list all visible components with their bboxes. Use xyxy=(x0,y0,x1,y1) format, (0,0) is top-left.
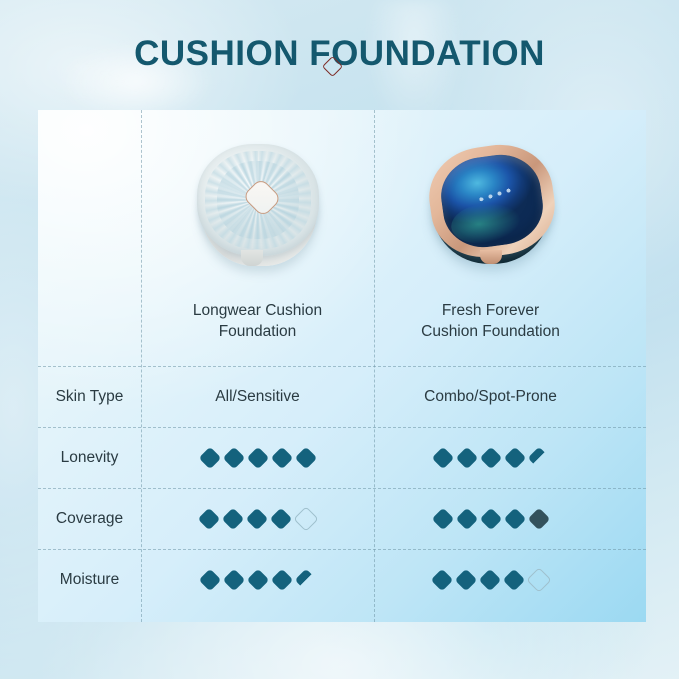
rating-diamond-full xyxy=(269,507,292,530)
rating-diamond-full xyxy=(431,507,454,530)
rating-diamond-empty xyxy=(526,567,551,592)
product-name-2-line2: Cushion Foundation xyxy=(374,321,607,342)
rating-diamond-full xyxy=(431,446,454,469)
rating-group xyxy=(434,571,548,589)
rating-diamond-full xyxy=(270,446,293,469)
rating-diamond-full xyxy=(246,568,269,591)
product-name-1-line2: Foundation xyxy=(141,321,374,342)
table-cell xyxy=(141,549,374,610)
rating-diamond-full xyxy=(479,446,502,469)
row-label: Skin Type xyxy=(38,366,141,427)
product-image-longwear xyxy=(183,138,333,278)
white-cushion-compact-icon xyxy=(183,138,333,278)
table-row: Moisture xyxy=(38,549,646,610)
table-row: Coverage xyxy=(38,488,646,549)
cushion-blue-dome xyxy=(436,149,548,252)
product-header-row: Longwear Cushion Foundation xyxy=(38,110,646,366)
table-cell xyxy=(141,427,374,488)
rating-group xyxy=(202,450,314,466)
rating-diamond-full xyxy=(479,507,502,530)
rating-diamond-full xyxy=(221,507,244,530)
row-label: Lonevity xyxy=(38,427,141,488)
title-container: CUSHION FOUNDATION xyxy=(0,34,679,74)
cushion-clasp xyxy=(480,250,502,264)
product-name-2-line1: Fresh Forever xyxy=(374,300,607,321)
rating-diamond-full xyxy=(222,446,245,469)
row-label: Moisture xyxy=(38,549,141,610)
cushion-rose-gold-ring xyxy=(422,138,560,264)
rating-diamond-full xyxy=(245,507,268,530)
table-row: Skin TypeAll/SensitiveCombo/Spot-Prone xyxy=(38,366,646,427)
product-name-1: Longwear Cushion Foundation xyxy=(141,300,374,342)
rating-group xyxy=(201,510,315,528)
table-row: Lonevity xyxy=(38,427,646,488)
rating-diamond-full xyxy=(503,446,526,469)
table-cell: All/Sensitive xyxy=(141,366,374,427)
rating-diamond-full xyxy=(455,446,478,469)
rating-diamond-full xyxy=(197,507,220,530)
product-name-2: Fresh Forever Cushion Foundation xyxy=(374,300,607,342)
rating-diamond-full xyxy=(478,568,501,591)
table-cell: Combo/Spot-Prone xyxy=(374,366,607,427)
table-cell xyxy=(374,549,607,610)
rating-group xyxy=(435,450,547,466)
product-column-2: Fresh Forever Cushion Foundation xyxy=(374,110,607,366)
cushion-lid xyxy=(197,144,319,256)
rating-diamond-full xyxy=(246,446,269,469)
rating-diamond-full xyxy=(455,507,478,530)
table-cell xyxy=(374,488,607,549)
table-cell xyxy=(374,427,607,488)
rating-diamond-full xyxy=(270,568,293,591)
rating-diamond-full xyxy=(294,446,317,469)
rating-diamond-full xyxy=(503,507,526,530)
product-image-fresh-forever xyxy=(416,138,566,278)
rating-diamond-full xyxy=(222,568,245,591)
row-label: Coverage xyxy=(38,488,141,549)
product-name-1-line1: Longwear Cushion xyxy=(141,300,374,321)
rating-diamond-half xyxy=(294,568,317,591)
rating-diamond-full xyxy=(198,446,221,469)
rating-diamond-full xyxy=(430,568,453,591)
rating-diamond-full-dark xyxy=(527,507,550,530)
table-cell xyxy=(141,488,374,549)
rating-diamond-full xyxy=(502,568,525,591)
cushion-clasp xyxy=(241,250,263,266)
product-column-1: Longwear Cushion Foundation xyxy=(141,110,374,366)
rating-diamond-full xyxy=(454,568,477,591)
rating-diamond-empty xyxy=(293,506,318,531)
blue-cushion-compact-icon xyxy=(416,138,566,278)
comparison-table-panel: Longwear Cushion Foundation xyxy=(38,110,646,622)
rating-diamond-full xyxy=(198,568,221,591)
rating-diamond-half xyxy=(527,446,550,469)
rating-group xyxy=(435,511,547,527)
rating-group xyxy=(202,572,314,588)
